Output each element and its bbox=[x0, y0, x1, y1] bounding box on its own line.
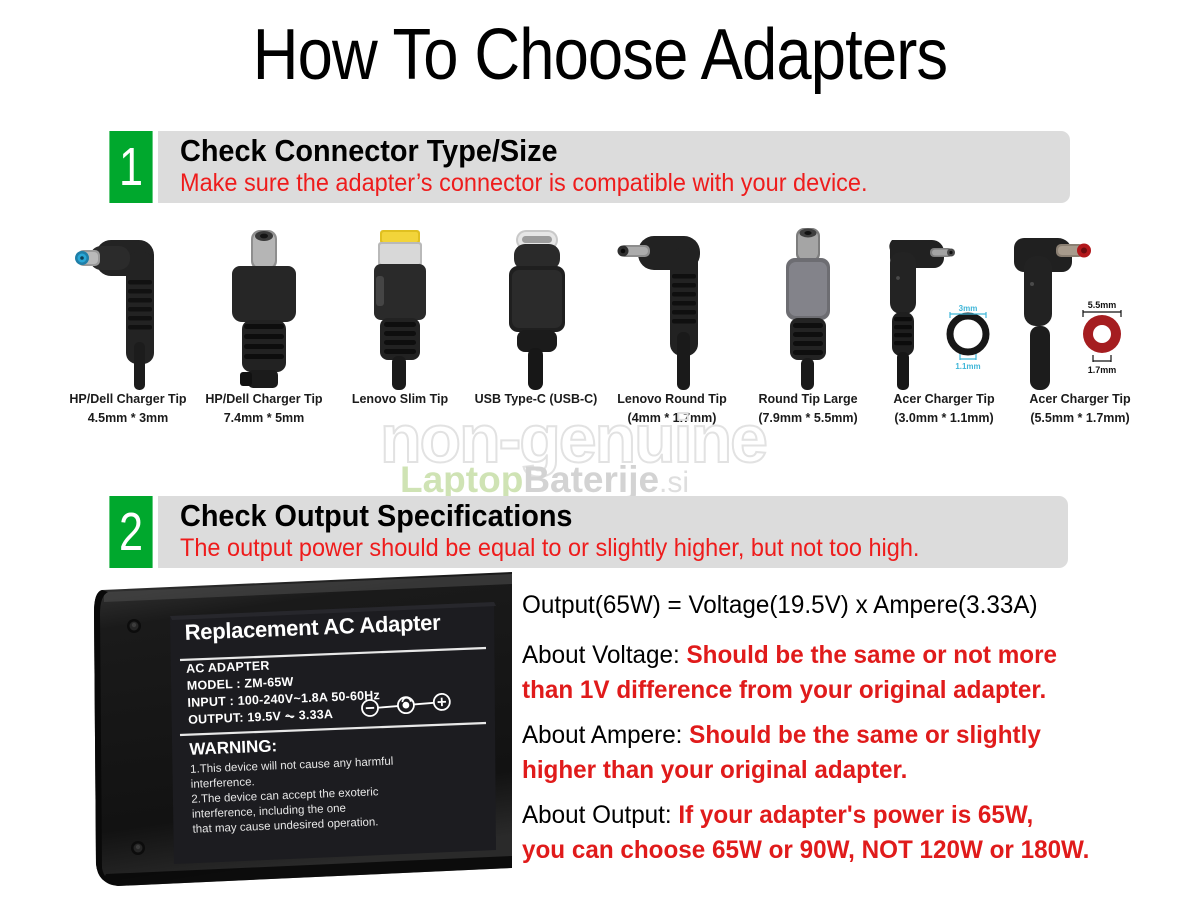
watermark-brand-tld: .si bbox=[659, 466, 689, 499]
connector-item-lenovo-round[interactable]: Lenovo Round Tip (4mm * 1.7mm) bbox=[604, 222, 740, 447]
lenovo-slim-rectangular-tip-icon bbox=[332, 222, 468, 390]
connector-item-lenovo-slim[interactable]: Lenovo Slim Tip bbox=[332, 222, 468, 447]
step-2-header-body: Check Output Specifications The output p… bbox=[158, 496, 1068, 568]
connector-name: Acer Charger Tip bbox=[866, 390, 1022, 409]
connector-size: 7.4mm * 5mm bbox=[186, 409, 342, 428]
spec-about-voltage: About Voltage: Should be the same or not… bbox=[522, 638, 1074, 708]
ac-adapter-photo: Replacement AC Adapter AC ADAPTER MODEL … bbox=[82, 568, 512, 888]
acer-large-red-tip-icon: 5.5mm 1.7mm bbox=[1012, 222, 1148, 390]
spec-label: About Output: bbox=[522, 801, 678, 829]
spec-line: you can choose 65W or 90W, NOT 120W or 1… bbox=[522, 833, 1089, 868]
adapter-label-warning-heading: WARNING: bbox=[189, 736, 278, 760]
hp-straight-barrel-tip-icon bbox=[196, 222, 332, 390]
connector-caption: Acer Charger Tip (5.5mm * 1.7mm) bbox=[1002, 390, 1158, 428]
connector-size: 4.5mm * 3mm bbox=[50, 409, 206, 428]
connector-caption: Acer Charger Tip (3.0mm * 1.1mm) bbox=[866, 390, 1022, 428]
connector-item-round-large[interactable]: Round Tip Large (7.9mm * 5.5mm) bbox=[740, 222, 876, 447]
spec-line: higher than your original adapter. bbox=[522, 753, 1041, 788]
connector-item-acer-3.0mm[interactable]: 3mm 1.1mm Acer Charger Tip (3.0mm * 1.1m… bbox=[876, 222, 1012, 447]
spec-value: than 1V difference from your original ad… bbox=[522, 676, 1046, 704]
svg-text:1.1mm: 1.1mm bbox=[955, 362, 980, 371]
step-2-header: 2 Check Output Specifications The output… bbox=[104, 496, 1068, 568]
spec-value: you can choose 65W or 90W, NOT 120W or 1… bbox=[522, 836, 1089, 864]
step-2-title: Check Output Specifications bbox=[180, 498, 572, 534]
step-1-title: Check Connector Type/Size bbox=[180, 133, 558, 169]
connector-name: USB Type-C (USB-C) bbox=[458, 390, 614, 409]
connector-item-hp-dell-4.5mm[interactable]: HP/Dell Charger Tip 4.5mm * 3mm bbox=[60, 222, 196, 447]
connector-name: Acer Charger Tip bbox=[1002, 390, 1158, 409]
page-title: How To Choose Adapters bbox=[72, 12, 1128, 98]
spec-line: About Ampere: Should be the same or slig… bbox=[522, 718, 1041, 753]
connector-size: (3.0mm * 1.1mm) bbox=[866, 409, 1022, 428]
connector-size: (7.9mm * 5.5mm) bbox=[730, 409, 886, 428]
spec-line: About Output: If your adapter's power is… bbox=[522, 798, 1089, 833]
connector-item-acer-5.5mm[interactable]: 5.5mm 1.7mm Acer Charger Tip (5.5mm * 1.… bbox=[1012, 222, 1148, 447]
connector-name: Round Tip Large bbox=[730, 390, 886, 409]
connector-caption: Lenovo Slim Tip bbox=[322, 390, 478, 409]
connector-caption: USB Type-C (USB-C) bbox=[458, 390, 614, 409]
step-1-number: 1 bbox=[109, 131, 152, 203]
connector-gallery: HP/Dell Charger Tip 4.5mm * 3mm bbox=[60, 222, 1150, 447]
connector-caption: HP/Dell Charger Tip 4.5mm * 3mm bbox=[50, 390, 206, 428]
step-1-subtitle: Make sure the adapter’s connector is com… bbox=[180, 167, 868, 199]
hp-blue-right-angle-tip-icon bbox=[60, 222, 196, 390]
spec-line: than 1V difference from your original ad… bbox=[522, 673, 1057, 708]
connector-item-hp-dell-7.4mm[interactable]: HP/Dell Charger Tip 7.4mm * 5mm bbox=[196, 222, 332, 447]
spec-line: About Voltage: Should be the same or not… bbox=[522, 638, 1057, 673]
connector-caption: Lenovo Round Tip (4mm * 1.7mm) bbox=[594, 390, 750, 428]
spec-line: Output(65W) = Voltage(19.5V) x Ampere(3.… bbox=[522, 588, 1038, 623]
spec-value: Should be the same or not more bbox=[687, 641, 1058, 669]
usb-type-c-connector-icon bbox=[468, 222, 604, 390]
spec-about-ampere: About Ampere: Should be the same or slig… bbox=[522, 718, 1057, 788]
step-2-number: 2 bbox=[109, 496, 152, 568]
gray-round-large-tip-icon bbox=[740, 222, 876, 390]
connector-name: HP/Dell Charger Tip bbox=[186, 390, 342, 409]
spec-value: higher than your original adapter. bbox=[522, 756, 907, 784]
connector-name: Lenovo Round Tip bbox=[594, 390, 750, 409]
acer-small-tip-icon: 3mm 1.1mm bbox=[876, 222, 1012, 390]
infographic-page: How To Choose Adapters 1 Check Connector… bbox=[0, 0, 1200, 900]
svg-text:5.5mm: 5.5mm bbox=[1088, 300, 1117, 310]
spec-value: Should be the same or slightly bbox=[689, 721, 1041, 749]
connector-name: Lenovo Slim Tip bbox=[322, 390, 478, 409]
spec-label: About Ampere: bbox=[522, 721, 689, 749]
step-1-header: 1 Check Connector Type/Size Make sure th… bbox=[104, 131, 1070, 203]
lenovo-round-right-angle-tip-icon bbox=[604, 222, 740, 390]
connector-name: HP/Dell Charger Tip bbox=[50, 390, 206, 409]
connector-size: (5.5mm * 1.7mm) bbox=[1002, 409, 1158, 428]
connector-size: (4mm * 1.7mm) bbox=[594, 409, 750, 428]
step-1-header-body: Check Connector Type/Size Make sure the … bbox=[158, 131, 1070, 203]
connector-caption: Round Tip Large (7.9mm * 5.5mm) bbox=[730, 390, 886, 428]
svg-text:3mm: 3mm bbox=[959, 304, 978, 313]
watermark-brand-laptop: Laptop bbox=[400, 459, 523, 500]
spec-about-output: About Output: If your adapter's power is… bbox=[522, 798, 1107, 868]
connector-caption: HP/Dell Charger Tip 7.4mm * 5mm bbox=[186, 390, 342, 428]
watermark-brand-baterije: Baterije bbox=[523, 459, 659, 500]
connector-item-usb-c[interactable]: USB Type-C (USB-C) bbox=[468, 222, 604, 447]
adapter-label-heading: Replacement AC Adapter bbox=[184, 610, 441, 646]
svg-text:1.7mm: 1.7mm bbox=[1088, 365, 1117, 375]
spec-output-formula: Output(65W) = Voltage(19.5V) x Ampere(3.… bbox=[522, 588, 1054, 623]
spec-label: About Voltage: bbox=[522, 641, 687, 669]
spec-value: If your adapter's power is 65W, bbox=[678, 801, 1033, 829]
